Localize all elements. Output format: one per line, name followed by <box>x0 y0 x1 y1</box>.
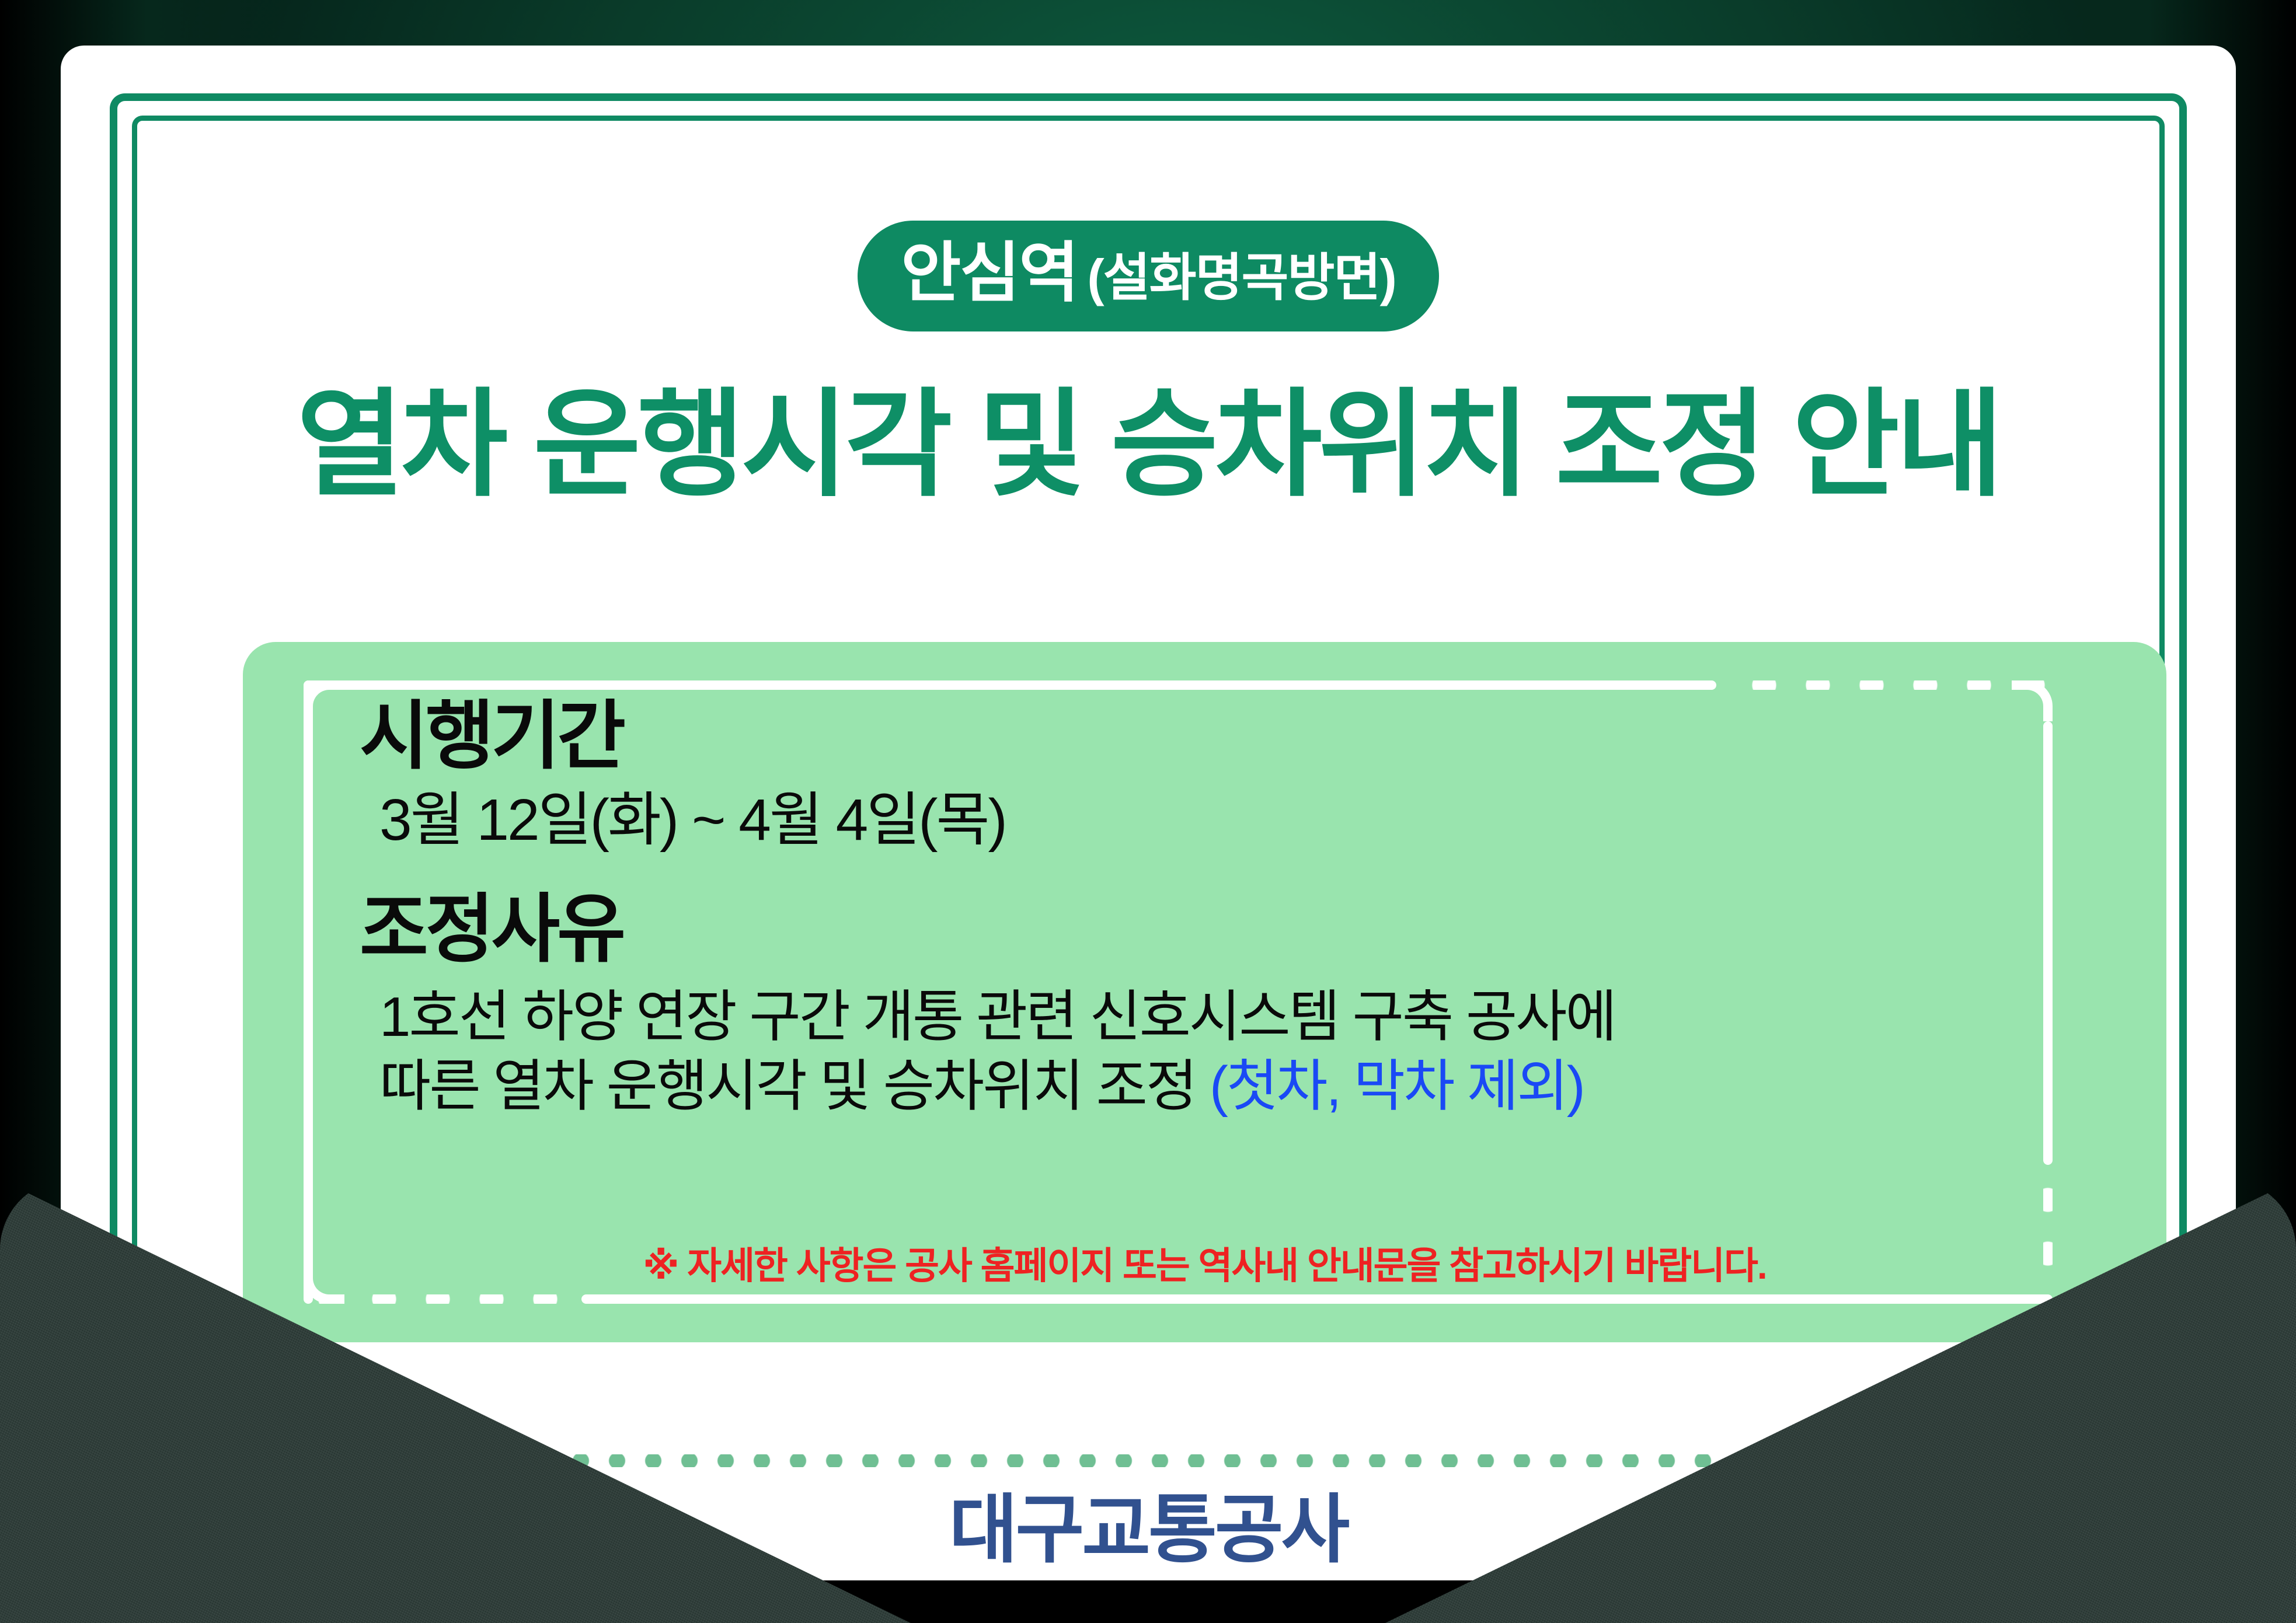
reason-heading: 조정사유 <box>360 888 2096 971</box>
panel-content: 시행기간 3월 12일(화) ~ 4월 4일(목) 조정사유 1호선 하양 연장… <box>360 694 2096 1121</box>
panel-inset-corner-top-left <box>304 680 344 721</box>
station-badge: 안심역 (설화명곡방면) <box>858 221 1439 331</box>
footnote-notice: ※ 자세한 사항은 공사 홈페이지 또는 역사내 안내문을 참고하시기 바랍니다… <box>243 1236 2166 1290</box>
panel-inset-rule-left <box>304 680 313 1304</box>
station-direction: (설화명곡방면) <box>1087 252 1395 303</box>
page-title: 열차 운행시각 및 승차위치 조정 안내 <box>61 384 2236 507</box>
panel-inset-rule-top <box>304 680 1716 690</box>
reason-text-line-2: 따른 열차 운행시각 및 승차위치 조정 (첫차, 막차 제외) <box>360 1052 2096 1121</box>
reason-text-line-2-black: 따른 열차 운행시각 및 승차위치 조정 <box>379 1055 1210 1118</box>
station-name: 안심역 <box>901 240 1078 306</box>
info-panel: 시행기간 3월 12일(화) ~ 4월 4일(목) 조정사유 1호선 하양 연장… <box>243 642 2166 1342</box>
period-heading: 시행기간 <box>360 694 2096 778</box>
period-value: 3월 12일(화) ~ 4월 4일(목) <box>360 785 2096 855</box>
station-badge-row: 안심역 (설화명곡방면) <box>61 221 2236 331</box>
panel-inset-dots-bottom <box>304 1294 572 1304</box>
panel-inset-dots-top <box>1737 680 2053 690</box>
poster-card: 안심역 (설화명곡방면) 열차 운행시각 및 승차위치 조정 안내 시행기간 3… <box>61 46 2236 1580</box>
reason-text-line-1: 1호선 하양 연장 구간 개통 관련 신호시스템 구축 공사에 <box>360 982 2096 1052</box>
panel-inset-rule-bottom <box>581 1294 2053 1304</box>
reason-block: 조정사유 1호선 하양 연장 구간 개통 관련 신호시스템 구축 공사에 따른 … <box>360 888 2096 1121</box>
reason-exclusion-note: (첫차, 막차 제외) <box>1210 1055 1584 1118</box>
